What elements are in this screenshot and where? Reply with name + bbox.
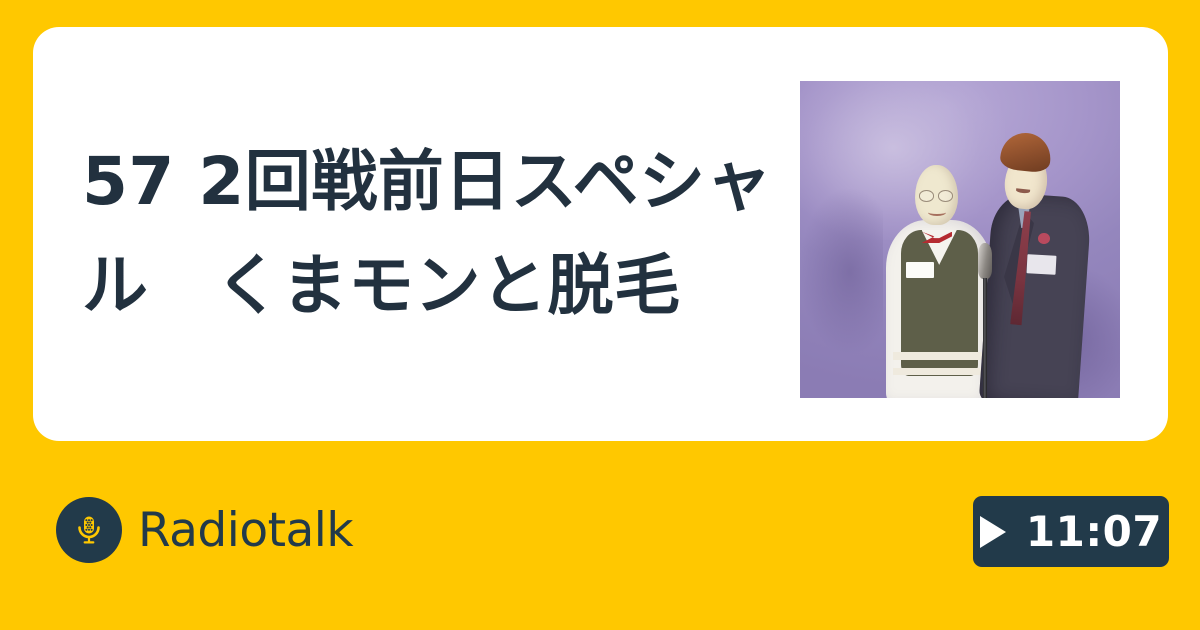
performer-left-stripe-upper: [893, 352, 983, 360]
brand-name: Radiotalk: [138, 507, 353, 554]
episode-title: 57 2回戦前日スペシャル くまモンと脱毛: [82, 130, 782, 338]
microphone-icon: [56, 497, 122, 563]
brand-lockup[interactable]: Radiotalk: [56, 497, 353, 563]
episode-card[interactable]: 57 2回戦前日スペシャル くまモンと脱毛: [33, 27, 1168, 441]
performer-right-name-tag: [1027, 255, 1057, 275]
play-duration-badge[interactable]: 11:07: [973, 496, 1169, 567]
duration-label: 11:07: [1026, 511, 1162, 553]
play-icon: [980, 516, 1006, 548]
thumbnail-artwork: [800, 81, 1120, 398]
footer-bar: Radiotalk 11:07: [0, 441, 1200, 630]
episode-thumbnail[interactable]: [800, 81, 1120, 398]
performer-left-name-tag: [906, 262, 935, 278]
performer-right-suit: [978, 192, 1092, 398]
performer-right-boutonniere: [1038, 233, 1050, 244]
performer-left-glasses-right: [938, 190, 953, 202]
episode-title-container: 57 2回戦前日スペシャル くまモンと脱毛: [82, 27, 782, 441]
episode-card-inner: 57 2回戦前日スペシャル くまモンと脱毛: [33, 27, 1168, 441]
stage-shadow-left: [800, 189, 883, 354]
radiotalk-share-card: 57 2回戦前日スペシャル くまモンと脱毛: [0, 0, 1200, 630]
performer-left-stripe-lower: [893, 368, 983, 375]
microphone-stand: [983, 278, 987, 398]
microphone-head-icon: [978, 243, 993, 279]
